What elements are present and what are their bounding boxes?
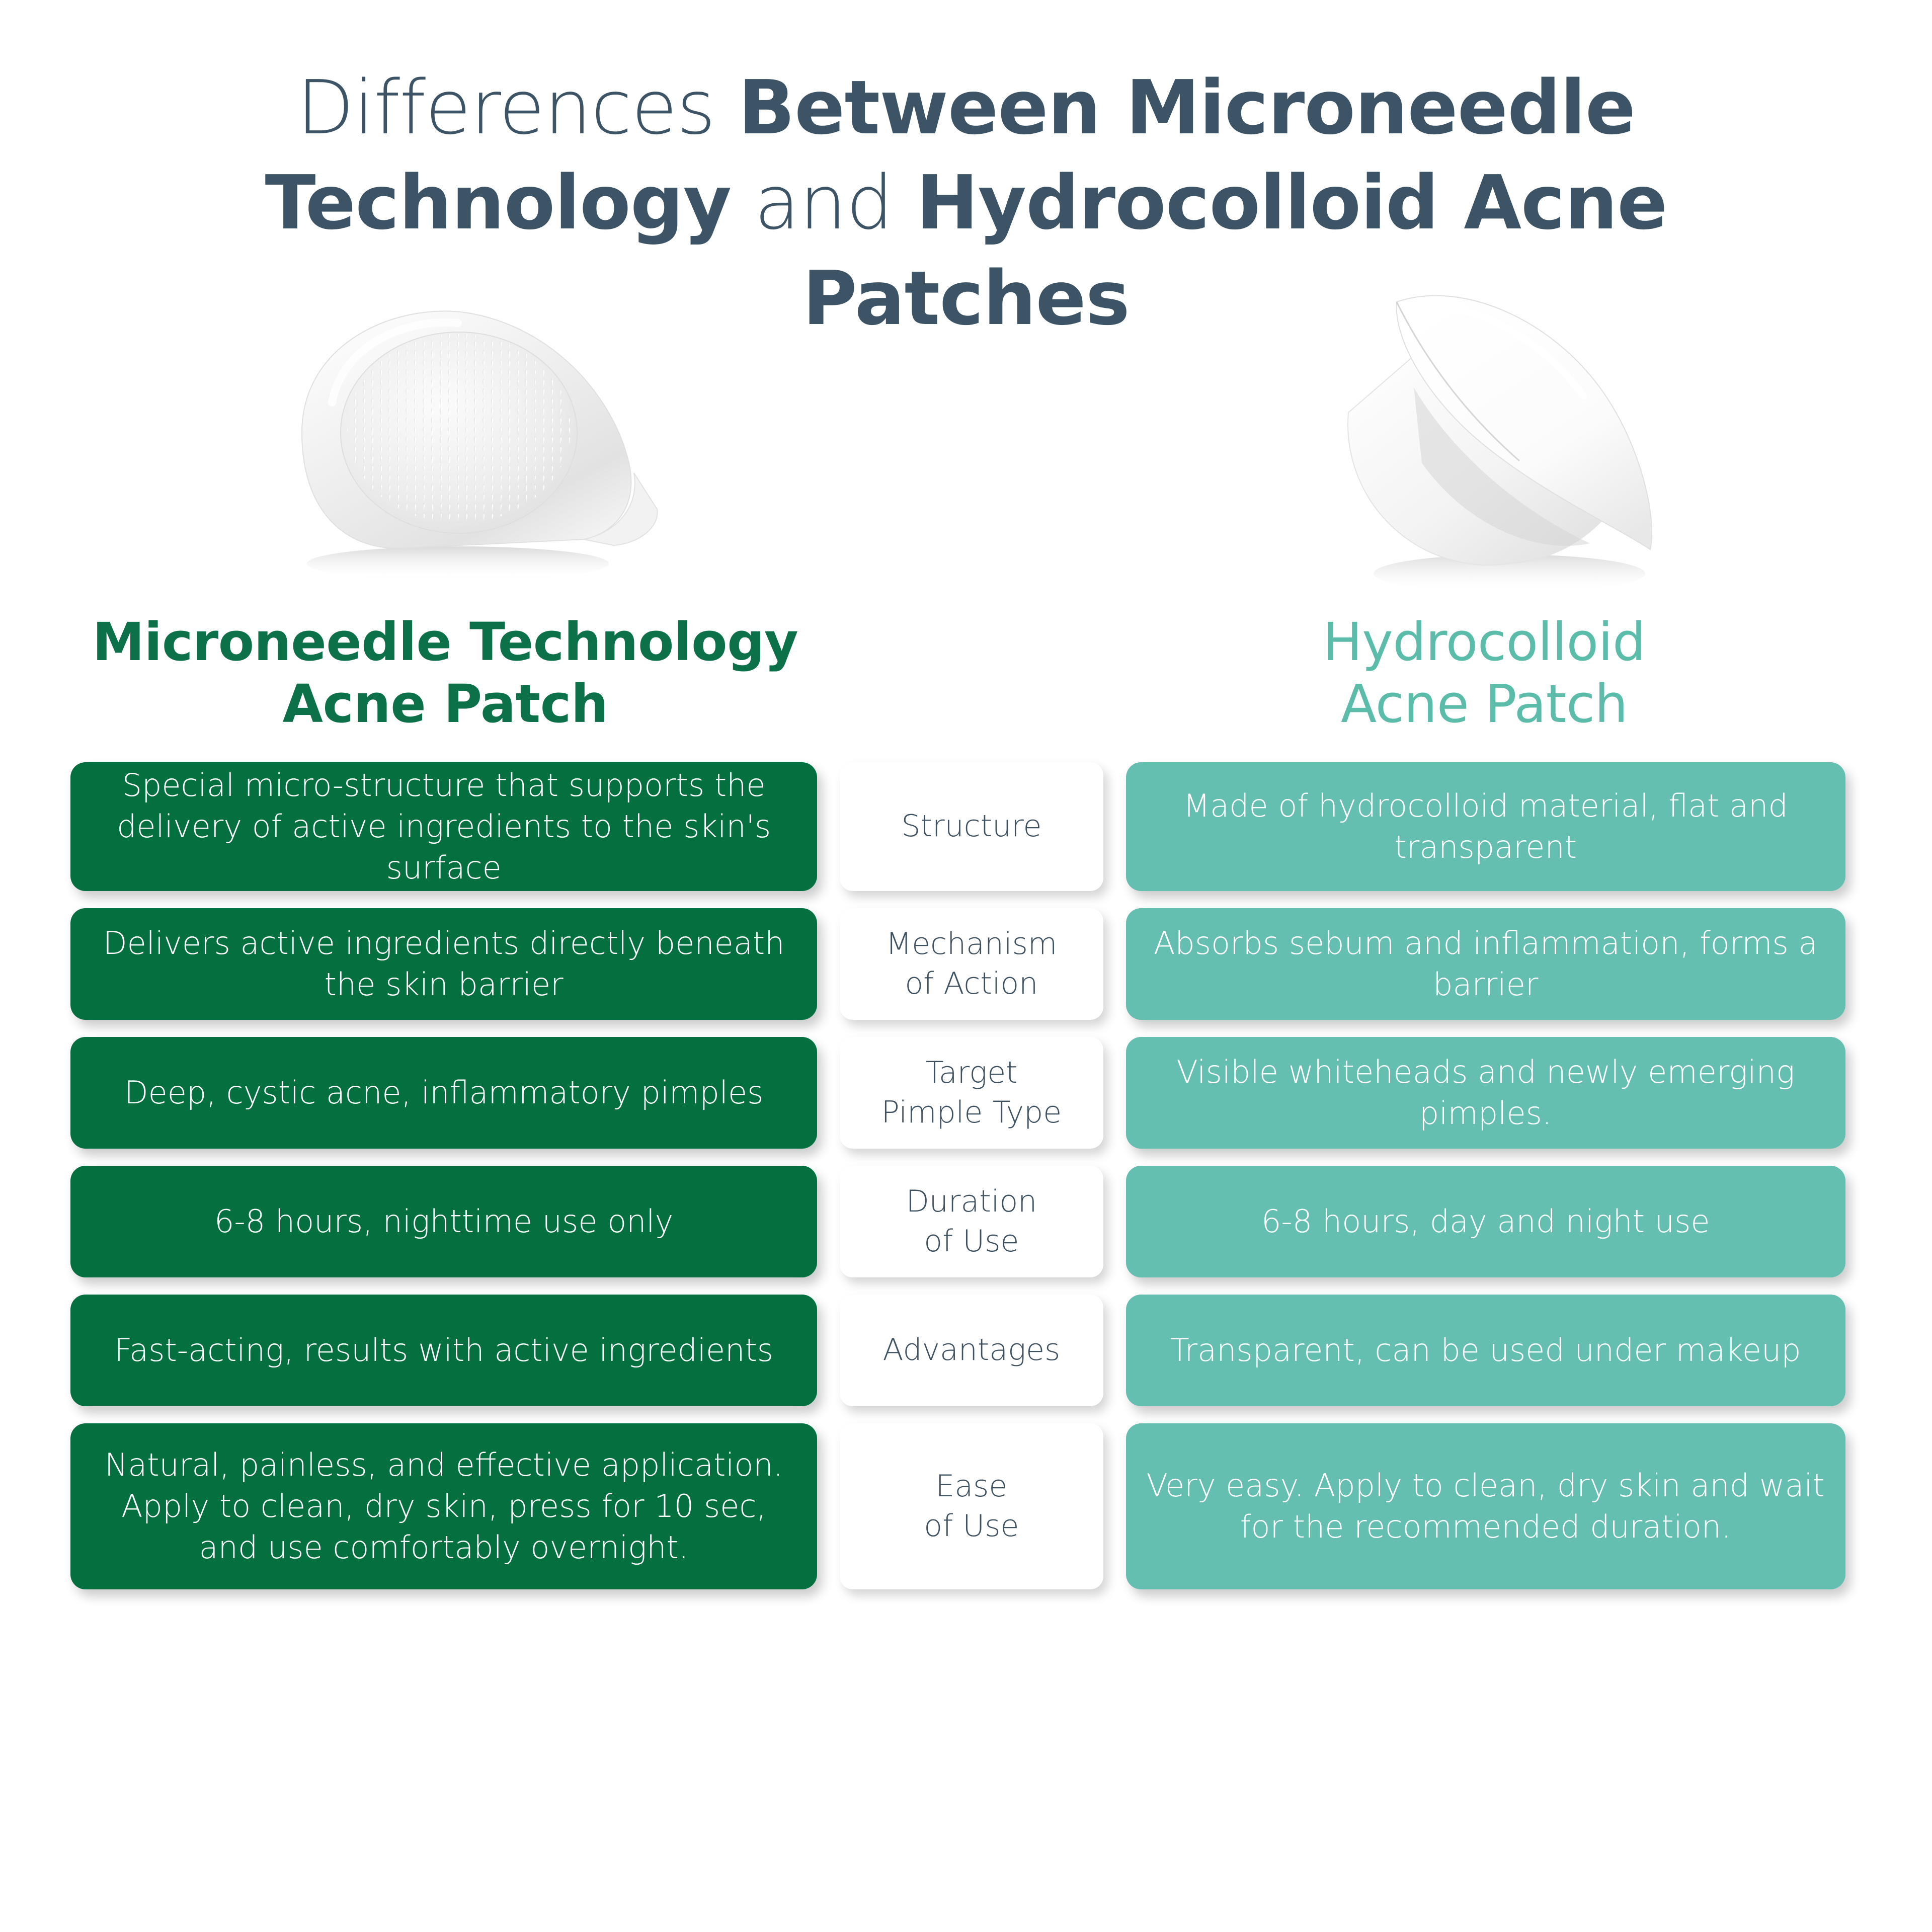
cell-label-structure: Structure — [840, 762, 1103, 891]
title-bold-2a: Technology — [265, 159, 732, 246]
cell-label-target: Target Pimple Type — [840, 1037, 1103, 1149]
microneedle-patch-image — [231, 282, 674, 594]
cell-label-advantages: Advantages — [840, 1295, 1103, 1406]
table-row: 6-8 hours, nighttime use only Duration o… — [70, 1166, 1845, 1277]
cell-left-duration: 6-8 hours, nighttime use only — [70, 1166, 817, 1277]
title-bold-1: Between Microneedle — [738, 64, 1635, 151]
cell-right-mechanism: Absorbs sebum and inflammation, forms a … — [1126, 908, 1846, 1020]
cell-left-structure: Special micro-structure that supports th… — [70, 762, 817, 891]
product-image-row — [0, 272, 1932, 604]
infographic-page: Differences Between Microneedle Technolo… — [0, 0, 1932, 1932]
cell-left-advantages: Fast-acting, results with active ingredi… — [70, 1295, 817, 1406]
cell-left-ease: Natural, painless, and effective applica… — [70, 1423, 817, 1589]
table-row: Fast-acting, results with active ingredi… — [70, 1295, 1845, 1406]
table-row: Delivers active ingredients directly ben… — [70, 908, 1845, 1020]
column-header-microneedle: Microneedle Technology Acne Patch — [70, 611, 820, 735]
column-header-hydrocolloid: Hydrocolloid Acne Patch — [1123, 611, 1845, 735]
cell-right-structure: Made of hydrocolloid material, flat and … — [1126, 762, 1846, 891]
cell-left-target: Deep, cystic acne, inflammatory pimples — [70, 1037, 817, 1149]
cell-right-duration: 6-8 hours, day and night use — [1126, 1166, 1846, 1277]
comparison-grid: Special micro-structure that supports th… — [70, 762, 1845, 1589]
table-row: Deep, cystic acne, inflammatory pimples … — [70, 1037, 1845, 1149]
title-light-2: and — [731, 159, 916, 246]
table-row: Special micro-structure that supports th… — [70, 762, 1845, 891]
cell-right-advantages: Transparent, can be used under makeup — [1126, 1295, 1846, 1406]
cell-right-target: Visible whiteheads and newly emerging pi… — [1126, 1037, 1846, 1149]
cell-right-ease: Very easy. Apply to clean, dry skin and … — [1126, 1423, 1846, 1589]
table-row: Natural, painless, and effective applica… — [70, 1423, 1845, 1589]
hydrocolloid-patch-image — [1298, 262, 1680, 614]
cell-label-duration: Duration of Use — [840, 1166, 1103, 1277]
cell-label-ease: Ease of Use — [840, 1423, 1103, 1589]
title-light-1: Differences — [297, 64, 738, 151]
cell-left-mechanism: Delivers active ingredients directly ben… — [70, 908, 817, 1020]
cell-label-mechanism: Mechanism of Action — [840, 908, 1103, 1020]
